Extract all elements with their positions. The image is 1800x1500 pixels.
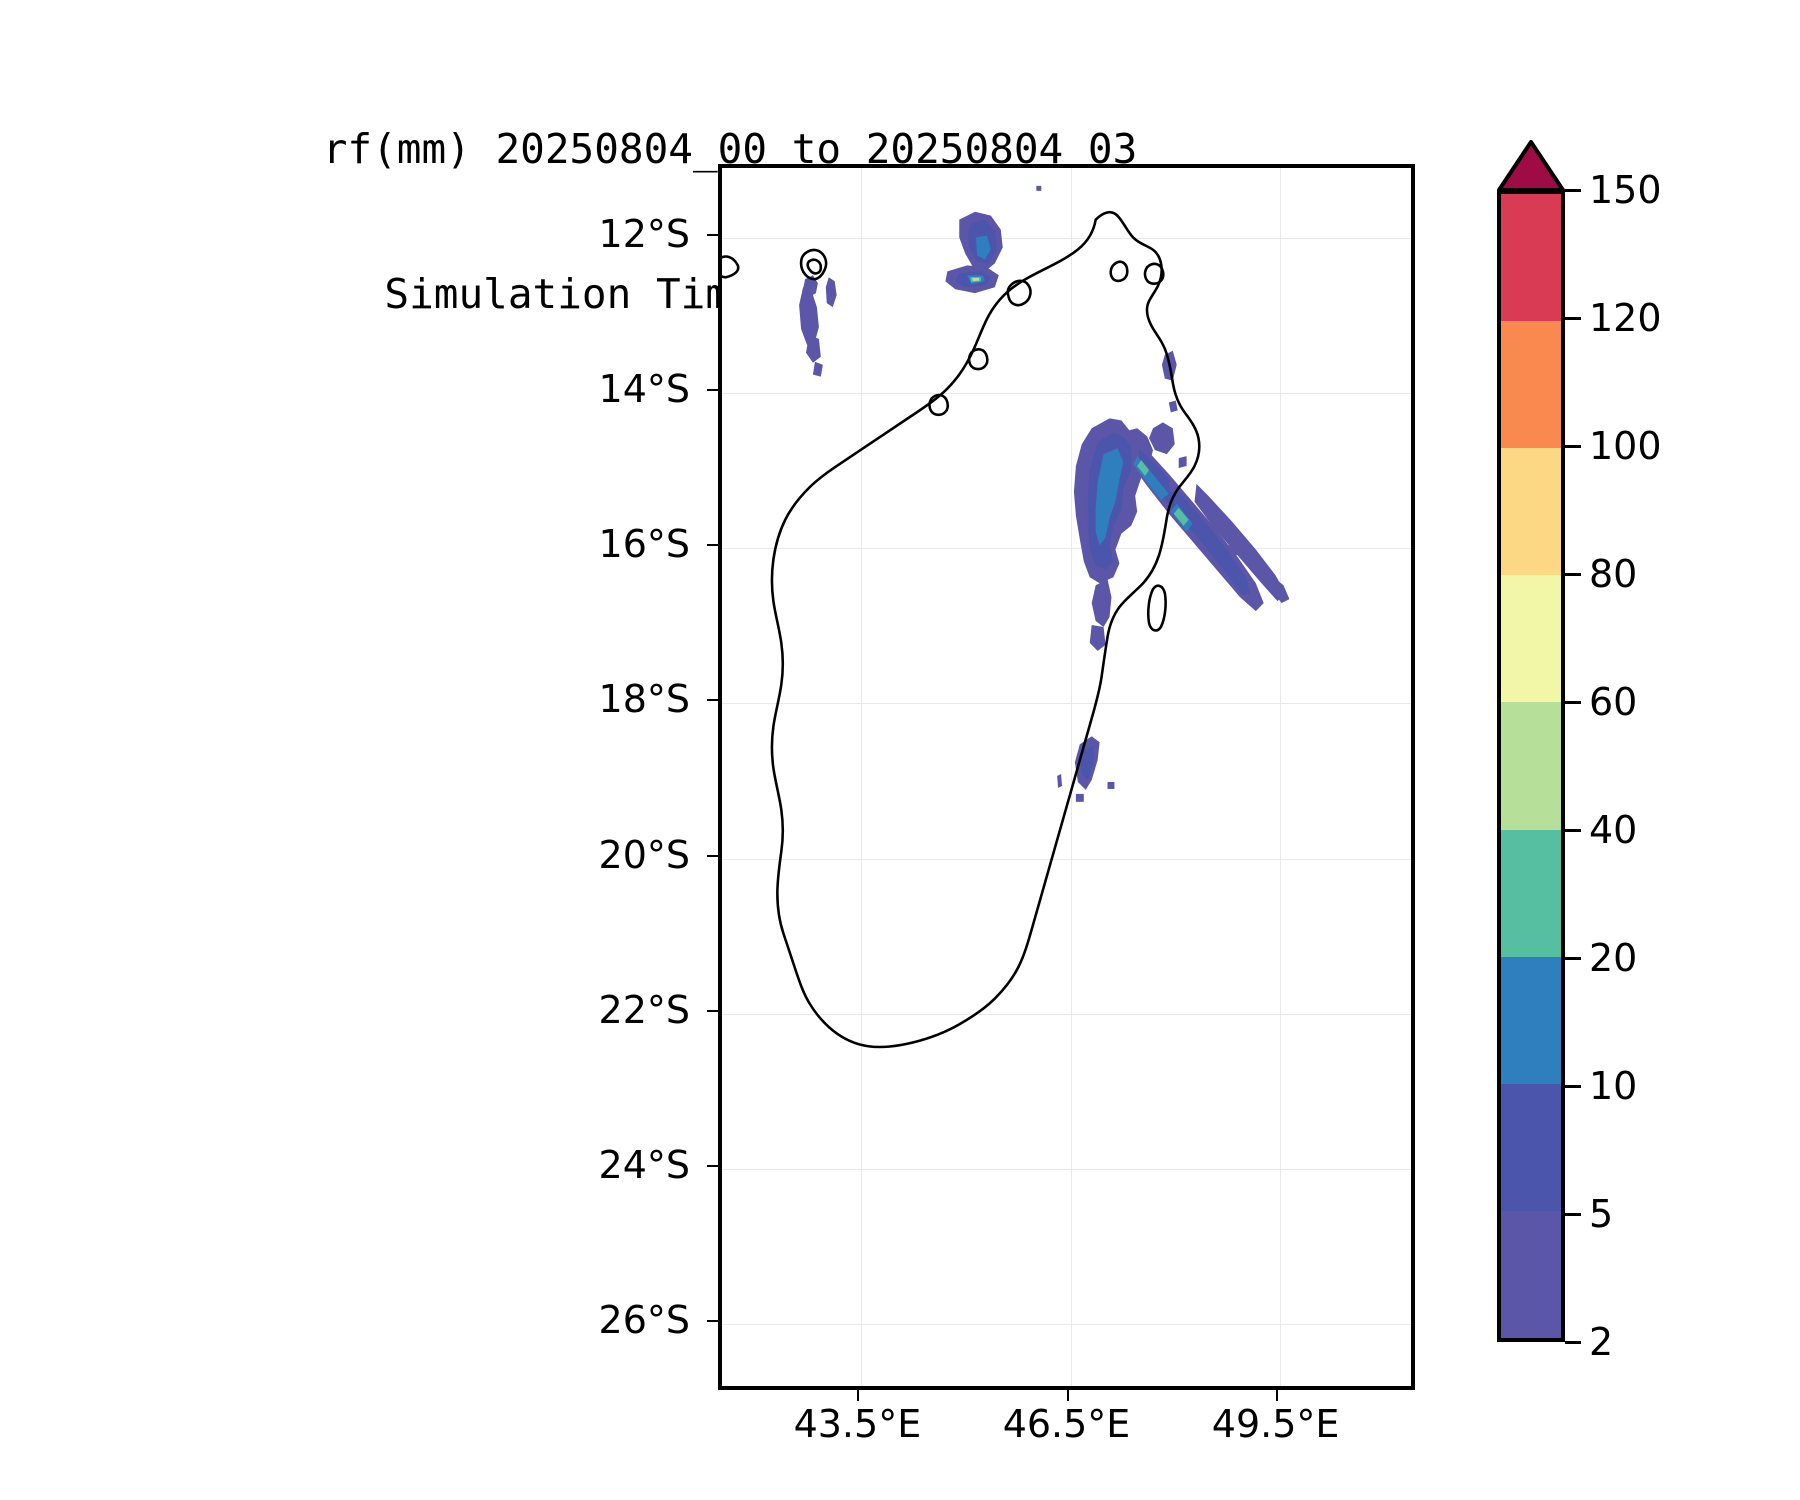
y-axis-tick-mark [707, 389, 718, 391]
colorbar-segment [1501, 321, 1561, 448]
colorbar-tick-label: 120 [1589, 296, 1662, 340]
colorbar-segment [1501, 1211, 1561, 1338]
x-axis-tick-label: 46.5°E [1003, 1402, 1131, 1446]
colorbar-tick-label: 20 [1589, 936, 1637, 980]
y-axis-tick-mark [707, 1010, 718, 1012]
colorbar-segment [1501, 575, 1561, 702]
map-geometry [722, 168, 1411, 1386]
y-axis-tick-label: 24°S [599, 1143, 690, 1187]
colorbar-segment [1501, 957, 1561, 1084]
y-axis-tick-label: 20°S [599, 833, 690, 877]
colorbar-tick-label: 150 [1589, 168, 1662, 212]
colorbar-tick-mark [1565, 573, 1581, 576]
colorbar-segment [1501, 448, 1561, 575]
y-axis-tick-label: 16°S [599, 522, 690, 566]
colorbar-gradient [1497, 190, 1565, 1342]
colorbar-segment [1501, 194, 1561, 321]
colorbar-segment [1501, 702, 1561, 829]
y-axis-tick-label: 18°S [599, 677, 690, 721]
colorbar-tick-mark [1565, 957, 1581, 960]
colorbar-tick-label: 80 [1589, 552, 1637, 596]
colorbar-segment [1501, 1084, 1561, 1211]
colorbar-tick-label: 2 [1589, 1320, 1613, 1364]
x-axis-tick-mark [857, 1390, 859, 1401]
colorbar-tick-mark [1565, 189, 1581, 192]
y-axis-tick-label: 12°S [599, 212, 690, 256]
colorbar-tick-mark [1565, 445, 1581, 448]
y-axis-tick-mark [707, 855, 718, 857]
colorbar-tick-label: 60 [1589, 680, 1637, 724]
colorbar-over-arrow [1497, 140, 1565, 192]
x-axis-tick-mark [1276, 1390, 1278, 1401]
colorbar-tick-label: 100 [1589, 424, 1662, 468]
y-axis-tick-mark [707, 1320, 718, 1322]
y-axis-tick-label: 14°S [599, 367, 690, 411]
y-axis-tick-mark [707, 234, 718, 236]
coastline-layer [722, 178, 1199, 1047]
colorbar-tick-mark [1565, 701, 1581, 704]
colorbar-tick-mark [1565, 317, 1581, 320]
x-axis-tick-mark [1067, 1390, 1069, 1401]
colorbar-tick-label: 40 [1589, 808, 1637, 852]
x-axis-tick-label: 43.5°E [794, 1402, 922, 1446]
y-axis-tick-label: 26°S [599, 1298, 690, 1342]
colorbar-tick-label: 5 [1589, 1192, 1613, 1236]
rainfall-shading [722, 186, 1289, 802]
y-axis-tick-mark [707, 699, 718, 701]
y-axis-tick-mark [707, 1165, 718, 1167]
colorbar-tick-mark [1565, 1341, 1581, 1344]
x-axis-tick-label: 49.5°E [1212, 1402, 1340, 1446]
colorbar-tick-mark [1565, 829, 1581, 832]
colorbar-tick-mark [1565, 1085, 1581, 1088]
y-axis-tick-label: 22°S [599, 988, 690, 1032]
colorbar-tick-mark [1565, 1213, 1581, 1216]
colorbar-tick-label: 10 [1589, 1064, 1637, 1108]
y-axis-tick-mark [707, 544, 718, 546]
map-canvas [722, 168, 1411, 1386]
map-plot-area [718, 164, 1415, 1390]
colorbar-segment [1501, 830, 1561, 957]
